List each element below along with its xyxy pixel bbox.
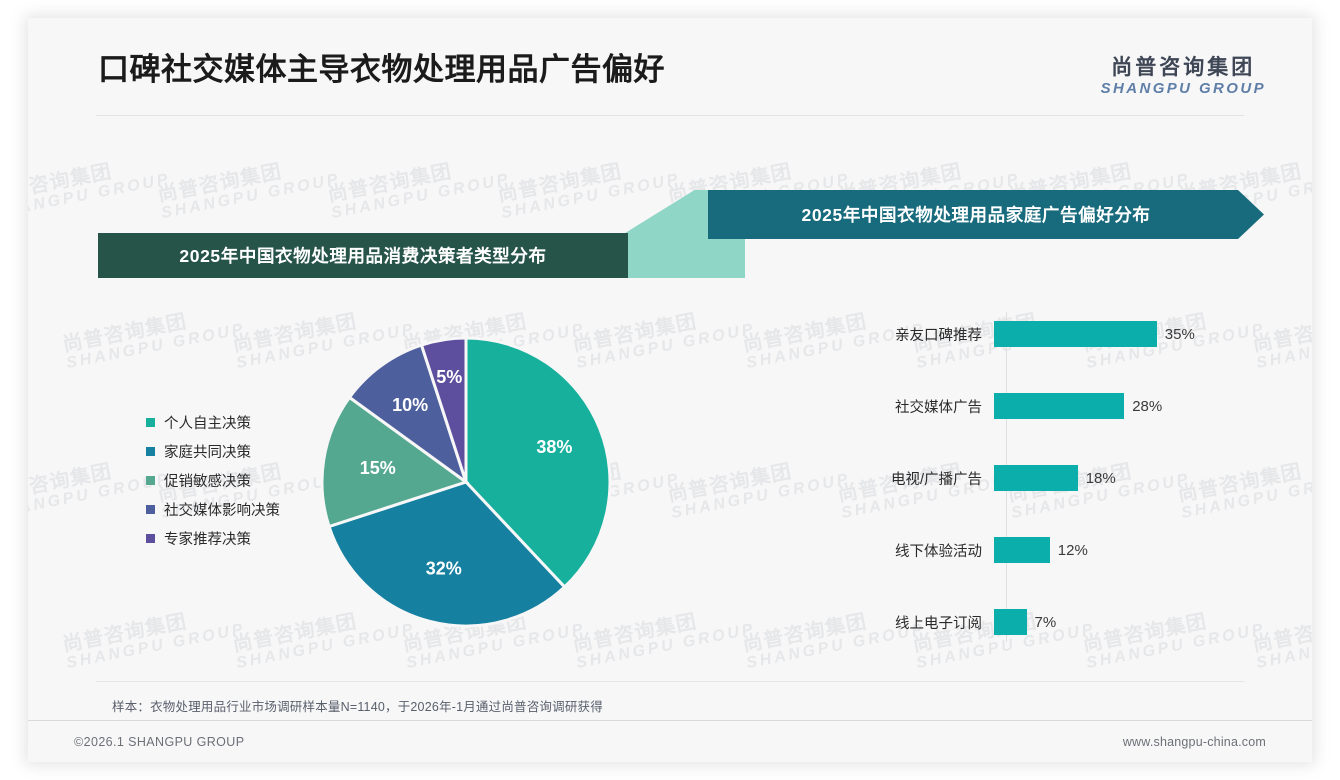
page-title: 口碑社交媒体主导衣物处理用品广告偏好 xyxy=(98,44,665,89)
pie-legend-item[interactable]: 家庭共同决策 xyxy=(146,437,336,466)
pie-legend: 个人自主决策家庭共同决策促销敏感决策社交媒体影响决策专家推荐决策 xyxy=(146,408,336,553)
bar-track: 18% xyxy=(994,462,1258,494)
bar-fill[interactable] xyxy=(994,321,1157,347)
bar-fill[interactable] xyxy=(994,393,1124,419)
bar-value-label: 18% xyxy=(1086,470,1116,487)
pie-slice-value-label: 15% xyxy=(360,458,396,478)
bar-category-label: 电视/广播广告 xyxy=(788,468,994,489)
bar-chart-block: 亲友口碑推荐35%社交媒体广告28%电视/广播广告18%线下体验活动12%线上电… xyxy=(788,306,1258,651)
header-divider xyxy=(96,115,1244,116)
legend-color-swatch xyxy=(146,476,155,485)
footnote-divider xyxy=(96,681,1244,682)
pie-slice-value-label: 32% xyxy=(426,559,462,579)
bar-chart-row[interactable]: 社交媒体广告28% xyxy=(788,390,1258,422)
bar-fill[interactable] xyxy=(994,537,1050,563)
legend-color-swatch xyxy=(146,505,155,514)
bar-chart-row[interactable]: 电视/广播广告18% xyxy=(788,462,1258,494)
brand-name-cn: 尚普咨询集团 xyxy=(1101,56,1266,80)
bar-fill[interactable] xyxy=(994,609,1027,635)
pie-legend-item[interactable]: 个人自主决策 xyxy=(146,408,336,437)
bar-category-label: 线上电子订阅 xyxy=(788,612,994,633)
pie-legend-item[interactable]: 专家推荐决策 xyxy=(146,524,336,553)
bar-chart-row[interactable]: 亲友口碑推荐35% xyxy=(788,318,1258,350)
bar-value-label: 7% xyxy=(1035,614,1057,631)
footer-copyright: ©2026.1 SHANGPU GROUP xyxy=(74,735,244,749)
legend-item-label: 促销敏感决策 xyxy=(164,470,251,491)
legend-item-label: 社交媒体影响决策 xyxy=(164,499,280,520)
legend-color-swatch xyxy=(146,418,155,427)
bar-track: 35% xyxy=(994,318,1258,350)
bar-value-label: 28% xyxy=(1132,398,1162,415)
legend-item-label: 专家推荐决策 xyxy=(164,528,251,549)
bar-chart-row[interactable]: 线上电子订阅7% xyxy=(788,606,1258,638)
pie-legend-item[interactable]: 促销敏感决策 xyxy=(146,466,336,495)
slide-root: 尚普咨询集团SHANGPU GROUP尚普咨询集团SHANGPU GROUP尚普… xyxy=(0,0,1340,780)
pie-slice-value-label: 38% xyxy=(536,437,572,457)
legend-color-swatch xyxy=(146,447,155,456)
bar-category-label: 亲友口碑推荐 xyxy=(788,324,994,345)
charts-area: 个人自主决策家庭共同决策促销敏感决策社交媒体影响决策专家推荐决策 38%32%1… xyxy=(28,18,1312,762)
brand-name-en: SHANGPU GROUP xyxy=(1101,80,1266,98)
bar-value-label: 35% xyxy=(1165,326,1195,343)
bar-chart-row[interactable]: 线下体验活动12% xyxy=(788,534,1258,566)
bar-track: 12% xyxy=(994,534,1258,566)
pie-chart-block: 个人自主决策家庭共同决策促销敏感决策社交媒体影响决策专家推荐决策 38%32%1… xyxy=(98,318,658,648)
pie-legend-item[interactable]: 社交媒体影响决策 xyxy=(146,495,336,524)
bar-category-label: 线下体验活动 xyxy=(788,540,994,561)
sample-footnote: 样本：衣物处理用品行业市场调研样本量N=1140，于2026年-1月通过尚普咨询… xyxy=(112,696,603,715)
bar-fill[interactable] xyxy=(994,465,1078,491)
bar-track: 7% xyxy=(994,606,1258,638)
pie-slice-value-label: 10% xyxy=(392,395,428,415)
slide-header: 口碑社交媒体主导衣物处理用品广告偏好 尚普咨询集团 SHANGPU GROUP xyxy=(28,18,1312,116)
slide-footer: ©2026.1 SHANGPU GROUP www.shangpu-china.… xyxy=(28,720,1312,762)
bar-track: 28% xyxy=(994,390,1258,422)
slide-page: 尚普咨询集团SHANGPU GROUP尚普咨询集团SHANGPU GROUP尚普… xyxy=(28,18,1312,762)
bar-category-label: 社交媒体广告 xyxy=(788,396,994,417)
footer-website: www.shangpu-china.com xyxy=(1123,735,1266,749)
pie-slice-value-label: 5% xyxy=(436,367,462,387)
legend-item-label: 家庭共同决策 xyxy=(164,441,251,462)
bar-value-label: 12% xyxy=(1058,542,1088,559)
pie-chart-svg: 38%32%15%10%5% xyxy=(316,332,616,632)
pie-chart: 38%32%15%10%5% xyxy=(316,332,616,632)
legend-color-swatch xyxy=(146,534,155,543)
legend-item-label: 个人自主决策 xyxy=(164,412,251,433)
brand-logo: 尚普咨询集团 SHANGPU GROUP xyxy=(1101,56,1266,98)
